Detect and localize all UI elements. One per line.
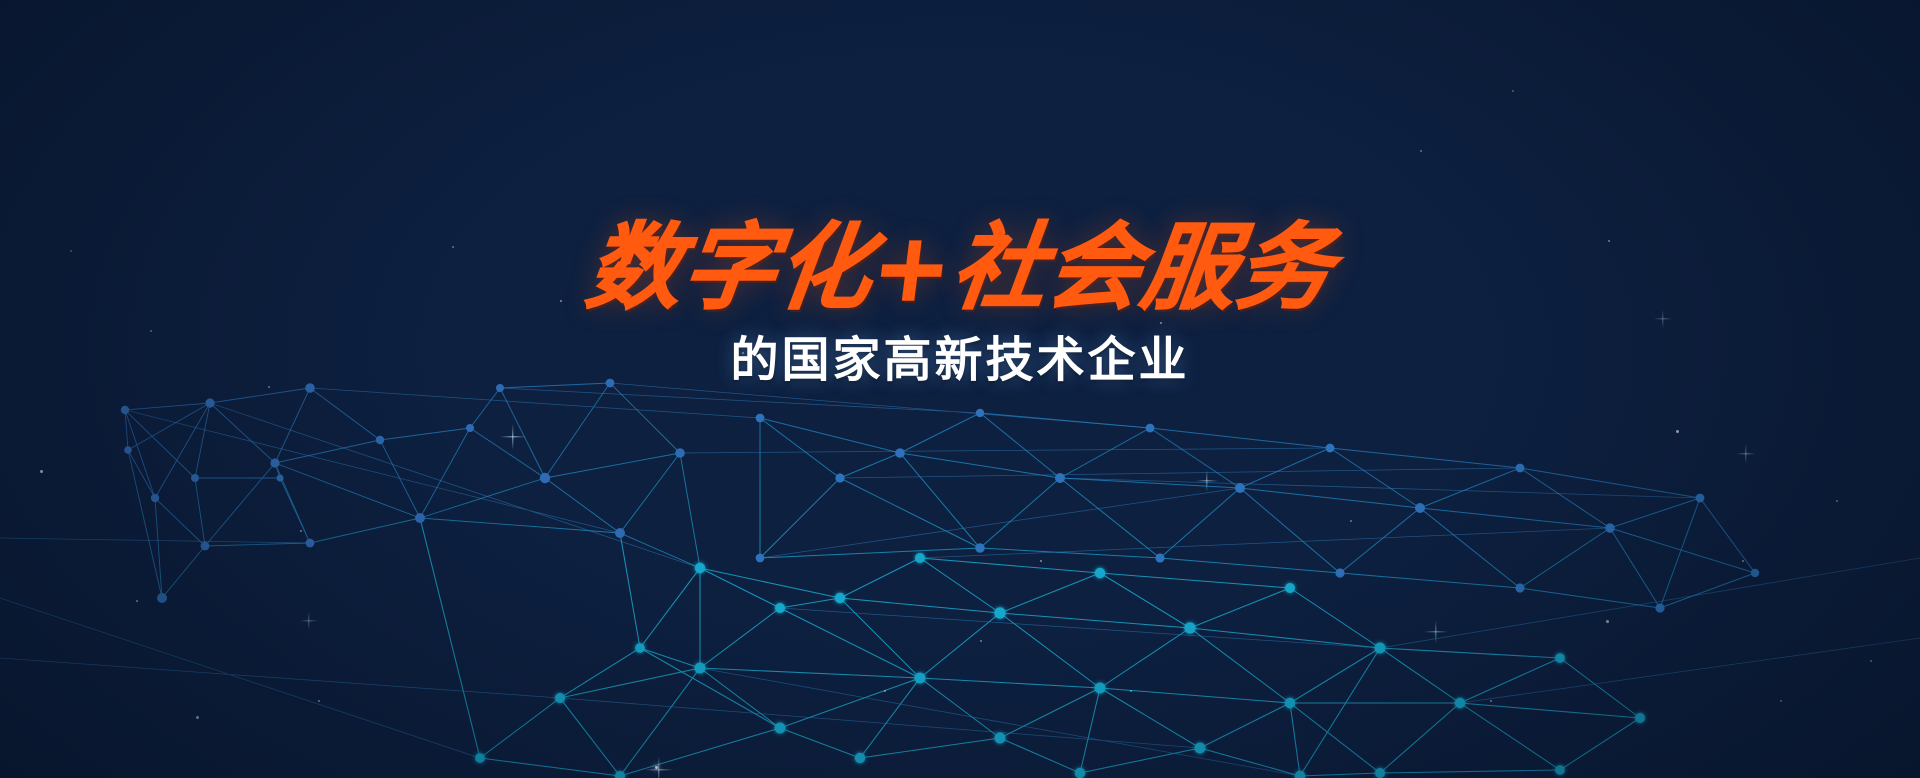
- background-gradient: [0, 0, 1920, 778]
- hero-banner: 数字化+社会服务 的国家高新技术企业: [0, 0, 1920, 778]
